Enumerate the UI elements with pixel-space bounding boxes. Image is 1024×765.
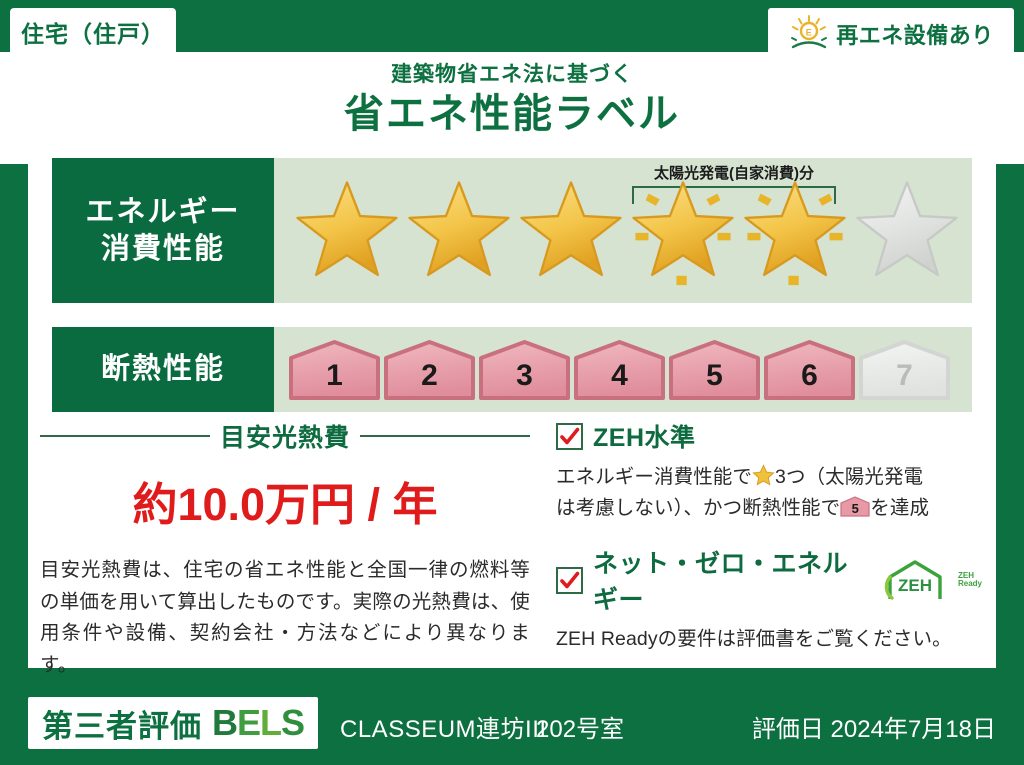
zeh-standard-checkbox[interactable] xyxy=(556,423,583,450)
title-block: 建築物省エネ法に基づく 省エネ性能ラベル xyxy=(0,62,1024,137)
bels-jp-label: 第三者評価 xyxy=(42,701,202,746)
insulation-performance-label-block: 断熱性能 xyxy=(52,327,274,412)
check-icon xyxy=(559,570,580,591)
cost-heading-rule-left xyxy=(40,435,210,437)
star-rating xyxy=(274,158,972,303)
insulation-performance-row: 断熱性能 1234567 xyxy=(52,327,972,412)
insulation-grade-number: 5 xyxy=(668,359,761,393)
building-name: CLASSEUM連坊III xyxy=(340,709,547,744)
energy-label-line1: エネルギー xyxy=(85,194,240,230)
star-empty xyxy=(848,175,966,287)
energy-star-track: 太陽光発電(自家消費)分 xyxy=(274,158,972,303)
inline-house-badge-number: 5 xyxy=(840,499,870,520)
zeh-desc-part-star: 3つ（太陽光発電 xyxy=(775,466,923,488)
net-zero-row: ネット・ゼロ・エネルギー ZEH ZEH Ready xyxy=(556,544,982,616)
zeh-desc-part-b: は考慮しない）、かつ断熱性能で xyxy=(556,497,840,519)
bels-letter-b: B xyxy=(212,702,237,743)
insulation-grade-number: 4 xyxy=(573,359,666,393)
star-filled xyxy=(400,175,518,287)
insulation-grade-filled: 2 xyxy=(383,339,476,401)
bels-letter-e: E xyxy=(237,702,260,743)
cost-heading-rule-right xyxy=(360,435,530,437)
insulation-grade-number: 3 xyxy=(478,359,571,393)
cost-heading-row: 目安光熱費 xyxy=(40,418,530,454)
cost-value: 約10.0万円 / 年 xyxy=(40,468,530,533)
star-filled xyxy=(512,175,630,287)
bels-letter-s: S xyxy=(281,702,304,743)
footer-bar: 第三者評価 BELS CLASSEUM連坊III 202号室 評価日 2024年… xyxy=(0,685,1024,765)
inline-house-badge-icon: 5 xyxy=(840,496,870,517)
svg-text:E: E xyxy=(806,28,813,38)
solar-sun-icon: E xyxy=(788,14,830,54)
title-subtitle: 建築物省エネ法に基づく xyxy=(0,62,1024,87)
cost-heading-label: 目安光熱費 xyxy=(220,418,350,454)
insulation-grade-filled: 4 xyxy=(573,339,666,401)
insulation-grade-filled: 5 xyxy=(668,339,761,401)
star-filled xyxy=(736,175,854,287)
zeh-logo-icon: ZEH xyxy=(884,559,946,601)
insulation-grade-number: 1 xyxy=(288,359,381,393)
zeh-ready-label: ZEH Ready xyxy=(958,572,982,589)
net-zero-title: ネット・ゼロ・エネルギー xyxy=(593,544,868,616)
zeh-desc-part-a: エネルギー消費性能で xyxy=(556,466,752,488)
estimated-utility-cost-section: 目安光熱費 約10.0万円 / 年 目安光熱費は、住宅の省エネ性能と全国一律の燃… xyxy=(40,418,530,681)
bels-badge: 第三者評価 BELS xyxy=(28,697,318,749)
insulation-grade-track: 1234567 xyxy=(274,327,972,412)
zeh-standard-title: ZEH水準 xyxy=(593,418,696,454)
zeh-standard-row: ZEH水準 xyxy=(556,418,982,454)
energy-performance-label: 住宅（住戸） E 再エネ設備あり 建築物省エネ法に基づく 省エネ性能ラベル xyxy=(0,0,1024,765)
zeh-standard-description: エネルギー消費性能で3つ（太陽光発電 は考慮しない）、かつ断熱性能で5を達成 xyxy=(556,462,982,524)
badge-house-type: 住宅（住戸） xyxy=(10,8,176,56)
badge-house-type-label: 住宅（住戸） xyxy=(21,15,165,49)
zeh-section: ZEH水準 エネルギー消費性能で3つ（太陽光発電 は考慮しない）、かつ断熱性能で… xyxy=(556,418,982,656)
zeh-desc-part-c: を達成 xyxy=(870,497,929,519)
bels-logo: BELS xyxy=(212,702,304,744)
insulation-grade-filled: 3 xyxy=(478,339,571,401)
room-number: 202号室 xyxy=(536,709,624,744)
energy-label-line2: 消費性能 xyxy=(101,231,225,267)
svg-text:ZEH: ZEH xyxy=(898,576,932,595)
check-icon xyxy=(559,426,580,447)
insulation-grade-number: 7 xyxy=(858,359,951,393)
insulation-grade-number: 6 xyxy=(763,359,856,393)
star-filled xyxy=(288,175,406,287)
cost-disclaimer: 目安光熱費は、住宅の省エネ性能と全国一律の燃料等の単価を用いて算出したものです。… xyxy=(40,555,530,681)
net-zero-checkbox[interactable] xyxy=(556,567,583,594)
energy-performance-row: エネルギー 消費性能 太陽光発電(自家消費)分 xyxy=(52,158,972,303)
evaluation-date: 評価日 2024年7月18日 xyxy=(752,709,996,744)
insulation-grade-empty: 7 xyxy=(858,339,951,401)
energy-performance-label-block: エネルギー 消費性能 xyxy=(52,158,274,303)
zeh-ready-line2: Ready xyxy=(958,579,982,588)
insulation-grade-number: 2 xyxy=(383,359,476,393)
net-zero-description: ZEH Readyの要件は評価書をご覧ください。 xyxy=(556,624,982,655)
inline-star-icon xyxy=(752,464,775,486)
insulation-grade-list: 1234567 xyxy=(274,327,972,412)
star-filled xyxy=(624,175,742,287)
insulation-grade-filled: 6 xyxy=(763,339,856,401)
badge-renewable: E 再エネ設備あり xyxy=(768,8,1014,60)
bels-letter-l: L xyxy=(260,702,281,743)
badge-renewable-label: 再エネ設備あり xyxy=(836,18,994,50)
page-title: 省エネ性能ラベル xyxy=(0,91,1024,137)
insulation-label-line1: 断熱性能 xyxy=(101,351,225,387)
insulation-grade-filled: 1 xyxy=(288,339,381,401)
